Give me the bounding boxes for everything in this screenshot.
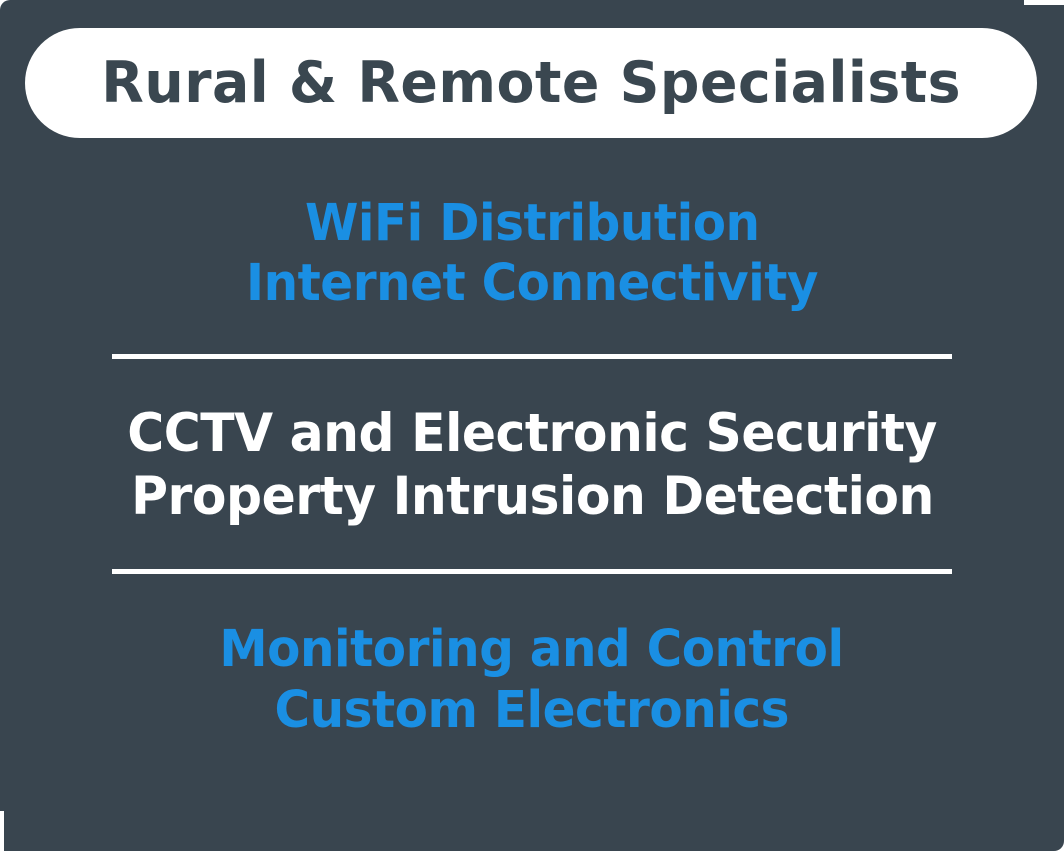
- header-pill: Rural & Remote Specialists: [25, 28, 1037, 138]
- edge-sliver-top-right: [1024, 0, 1064, 5]
- divider-top: [112, 354, 952, 359]
- service-line-property-intrusion-detection: Property Intrusion Detection: [131, 466, 934, 529]
- service-group-security: CCTV and Electronic Security Property In…: [0, 403, 1064, 528]
- service-line-custom-electronics: Custom Electronics: [275, 681, 789, 741]
- divider-bottom: [112, 569, 952, 574]
- service-line-wifi-distribution: WiFi Distribution: [305, 194, 760, 254]
- service-list-card: Rural & Remote Specialists WiFi Distribu…: [0, 0, 1064, 851]
- service-line-internet-connectivity: Internet Connectivity: [246, 254, 818, 314]
- service-group-monitoring: Monitoring and Control Custom Electronic…: [0, 620, 1064, 740]
- page-title: Rural & Remote Specialists: [101, 55, 961, 112]
- service-group-connectivity: WiFi Distribution Internet Connectivity: [0, 194, 1064, 314]
- services-stack: WiFi Distribution Internet Connectivity …: [0, 138, 1064, 851]
- service-line-monitoring-and-control: Monitoring and Control: [220, 620, 844, 680]
- service-line-cctv-electronic-security: CCTV and Electronic Security: [127, 403, 937, 466]
